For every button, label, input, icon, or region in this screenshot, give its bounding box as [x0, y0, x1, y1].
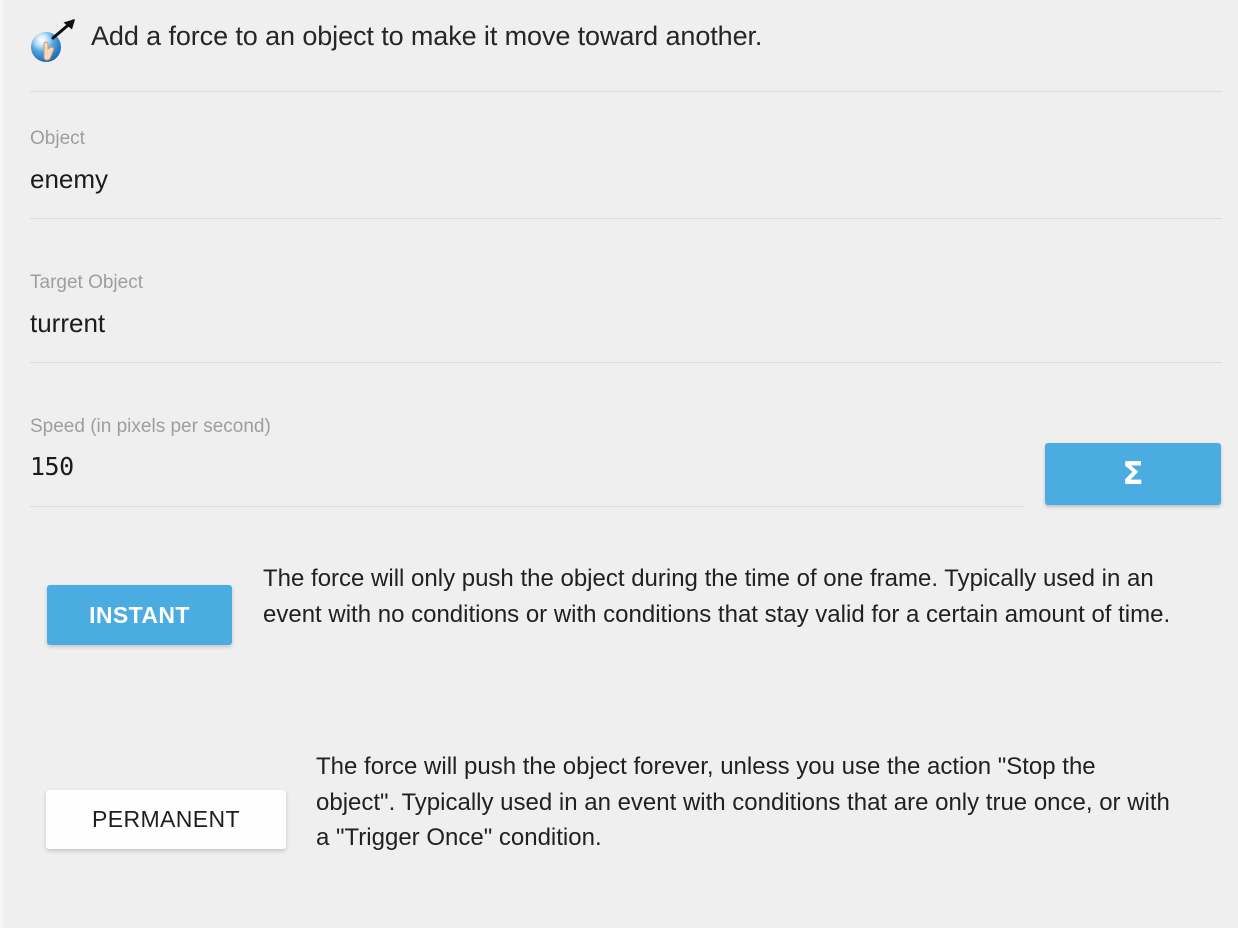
action-editor-panel: Add a force to an object to make it move… [0, 0, 1238, 928]
field-speed: Speed (in pixels per second) 150 [30, 416, 271, 484]
panel-header: Add a force to an object to make it move… [3, 0, 1238, 92]
field-object-underline [30, 218, 1222, 219]
header-divider [30, 91, 1222, 92]
permanent-description: The force will push the object forever, … [316, 749, 1181, 856]
field-object-label: Object [30, 128, 108, 150]
field-speed-underline [30, 506, 1025, 507]
field-speed-label: Speed (in pixels per second) [30, 416, 271, 438]
instant-button[interactable]: INSTANT [47, 585, 232, 645]
permanent-button[interactable]: PERMANENT [46, 790, 286, 849]
field-object-input[interactable]: enemy [30, 162, 108, 196]
force-arrow-object-icon [29, 14, 81, 64]
field-target-object-underline [30, 362, 1222, 363]
sigma-icon[interactable]: Σ [1045, 443, 1221, 505]
field-target-object-input[interactable]: turrent [30, 306, 143, 340]
field-target-object-label: Target Object [30, 272, 143, 294]
page-title: Add a force to an object to make it move… [91, 21, 762, 52]
field-object: Object enemy [30, 128, 108, 196]
field-speed-input[interactable]: 150 [30, 450, 271, 484]
field-target-object: Target Object turrent [30, 272, 143, 340]
instant-description: The force will only push the object duri… [263, 561, 1208, 632]
